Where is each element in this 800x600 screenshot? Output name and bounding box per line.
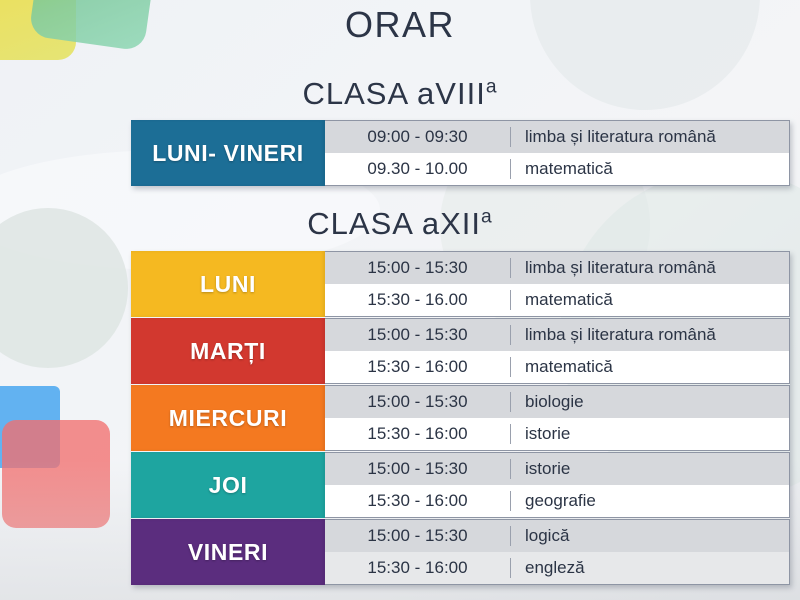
table-row: 15:00 - 15:30istorie	[325, 453, 789, 485]
day-block: MARȚI15:00 - 15:30limba și literatura ro…	[131, 318, 790, 384]
cell-subject: engleză	[511, 558, 789, 578]
day-label[interactable]: LUNI	[131, 251, 325, 317]
cell-time: 15:30 - 16:00	[325, 424, 511, 444]
day-rows: 15:00 - 15:30limba și literatura română1…	[325, 318, 790, 384]
cell-subject: matematică	[511, 357, 789, 377]
day-label[interactable]: LUNI- VINERI	[131, 120, 325, 186]
day-rows: 09:00 - 09:30limba și literatura română0…	[325, 120, 790, 186]
day-rows: 15:00 - 15:30logică15:30 - 16:00engleză	[325, 519, 790, 585]
cell-subject: limba și literatura română	[511, 325, 789, 345]
table-row: 15:30 - 16:00istorie	[325, 418, 789, 450]
day-label[interactable]: JOI	[131, 452, 325, 518]
section-heading-clasa-12: CLASA aXIIa	[0, 206, 800, 242]
day-block: MIERCURI15:00 - 15:30biologie15:30 - 16:…	[131, 385, 790, 451]
decorative-red-square	[2, 420, 110, 528]
cell-subject: geografie	[511, 491, 789, 511]
day-block: LUNI15:00 - 15:30limba și literatura rom…	[131, 251, 790, 317]
table-row: 15:30 - 16:00matematică	[325, 351, 789, 383]
day-label[interactable]: MIERCURI	[131, 385, 325, 451]
table-row: 09:00 - 09:30limba și literatura română	[325, 121, 789, 153]
cell-subject: istorie	[511, 424, 789, 444]
table-row: 15:00 - 15:30limba și literatura română	[325, 252, 789, 284]
cell-time: 09:00 - 09:30	[325, 127, 511, 147]
schedule-table-clasa-12: LUNI15:00 - 15:30limba și literatura rom…	[131, 251, 790, 585]
cell-subject: biologie	[511, 392, 789, 412]
day-rows: 15:00 - 15:30biologie15:30 - 16:00istori…	[325, 385, 790, 451]
schedule-table-clasa-8: LUNI- VINERI09:00 - 09:30limba și litera…	[131, 120, 790, 186]
table-row: 15:30 - 16:00engleză	[325, 552, 789, 584]
table-row: 15:30 - 16:00geografie	[325, 485, 789, 517]
cell-subject: limba și literatura română	[511, 258, 789, 278]
day-block: JOI15:00 - 15:30istorie15:30 - 16:00geog…	[131, 452, 790, 518]
day-label[interactable]: VINERI	[131, 519, 325, 585]
cell-time: 15:30 - 16:00	[325, 357, 511, 377]
day-rows: 15:00 - 15:30limba și literatura română1…	[325, 251, 790, 317]
cell-time: 15:00 - 15:30	[325, 526, 511, 546]
day-block: VINERI15:00 - 15:30logică15:30 - 16:00en…	[131, 519, 790, 585]
cell-subject: matematică	[511, 159, 789, 179]
table-row: 15:00 - 15:30logică	[325, 520, 789, 552]
cell-subject: istorie	[511, 459, 789, 479]
cell-time: 15:30 - 16.00	[325, 290, 511, 310]
cell-time: 15:00 - 15:30	[325, 325, 511, 345]
page-title: ORAR	[0, 4, 800, 46]
section-heading-superscript: a	[481, 207, 493, 228]
section-heading-superscript: a	[486, 77, 498, 98]
cell-subject: logică	[511, 526, 789, 546]
schedule-poster: ORAR CLASA aVIIIa LUNI- VINERI09:00 - 09…	[0, 0, 800, 600]
cell-time: 15:00 - 15:30	[325, 459, 511, 479]
section-heading-text: CLASA aVIII	[302, 76, 485, 111]
table-row: 15:00 - 15:30biologie	[325, 386, 789, 418]
cell-time: 09.30 - 10.00	[325, 159, 511, 179]
cell-time: 15:30 - 16:00	[325, 558, 511, 578]
table-row: 15:30 - 16.00matematică	[325, 284, 789, 316]
cell-subject: limba și literatura română	[511, 127, 789, 147]
decorative-blue-square	[0, 386, 60, 468]
section-heading-text: CLASA aXII	[307, 206, 481, 241]
cell-time: 15:30 - 16:00	[325, 491, 511, 511]
day-label[interactable]: MARȚI	[131, 318, 325, 384]
section-heading-clasa-8: CLASA aVIIIa	[0, 76, 800, 112]
cell-time: 15:00 - 15:30	[325, 392, 511, 412]
cell-time: 15:00 - 15:30	[325, 258, 511, 278]
table-row: 09.30 - 10.00matematică	[325, 153, 789, 185]
day-rows: 15:00 - 15:30istorie15:30 - 16:00geograf…	[325, 452, 790, 518]
table-row: 15:00 - 15:30limba și literatura română	[325, 319, 789, 351]
day-block: LUNI- VINERI09:00 - 09:30limba și litera…	[131, 120, 790, 186]
cell-subject: matematică	[511, 290, 789, 310]
